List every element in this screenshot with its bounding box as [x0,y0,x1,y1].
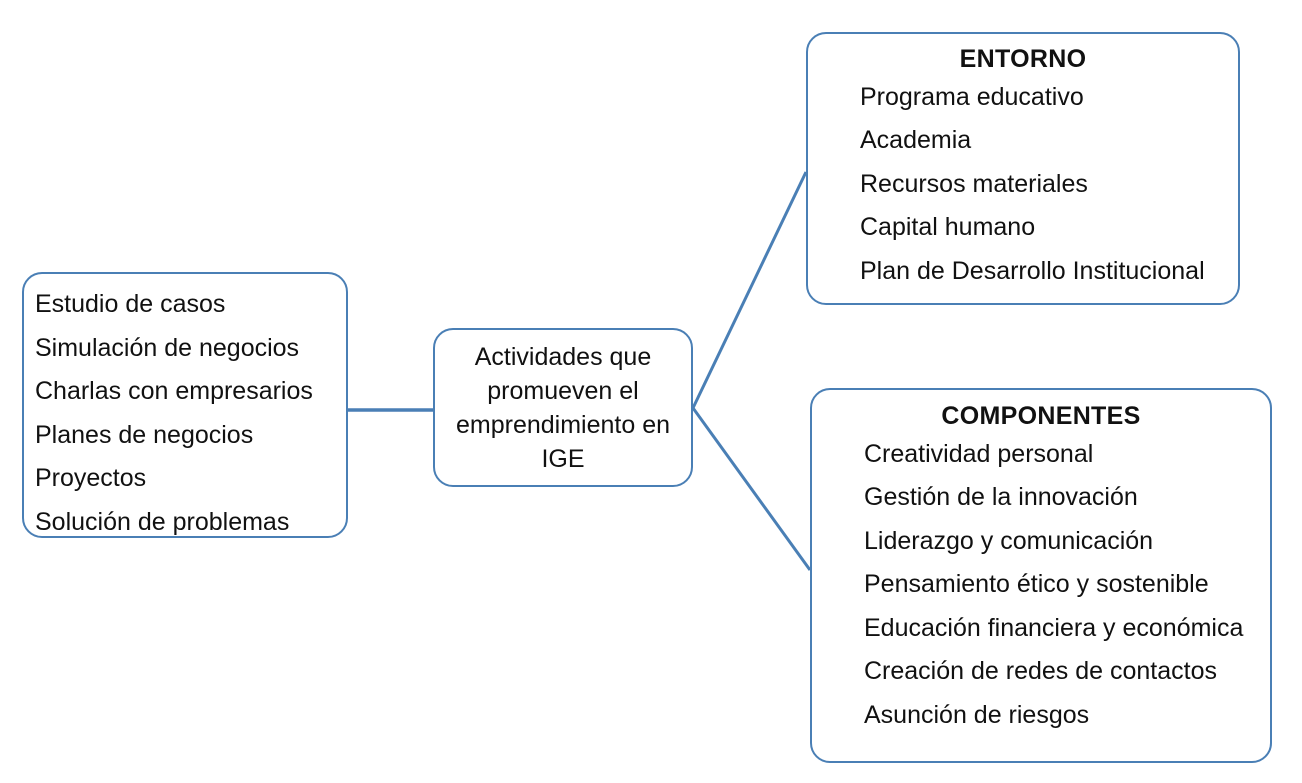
list-item: Creatividad personal [864,433,1270,477]
list-item: Gestión de la innovación [864,476,1270,520]
list-item: Recursos materiales [860,163,1238,207]
list-item: Pensamiento ético y sostenible [864,563,1270,607]
activities-item-list: Estudio de casos Simulación de negocios … [35,283,346,544]
entorno-title: ENTORNO [808,46,1238,74]
list-item: Liderazgo y comunicación [864,520,1270,564]
list-item: Estudio de casos [35,283,346,327]
list-item: Proyectos [35,457,346,501]
entorno-item-list: Programa educativo Academia Recursos mat… [808,76,1238,294]
list-item: Creación de redes de contactos [864,650,1270,694]
list-item: Planes de negocios [35,414,346,458]
list-item: Academia [860,119,1238,163]
componentes-title: COMPONENTES [812,403,1270,431]
node-activities[interactable]: Estudio de casos Simulación de negocios … [22,272,348,538]
list-item: Asunción de riesgos [864,694,1270,738]
connector-center-to-componentes [693,408,810,570]
node-entorno[interactable]: ENTORNO Programa educativo Academia Recu… [806,32,1240,305]
node-center-concept[interactable]: Actividades que promueven el emprendimie… [433,328,693,487]
list-item: Plan de Desarrollo Institucional [860,250,1238,294]
list-item: Simulación de negocios [35,327,346,371]
list-item: Charlas con empresarios [35,370,346,414]
list-item: Educación financiera y económica [864,607,1270,651]
node-componentes[interactable]: COMPONENTES Creatividad personal Gestión… [810,388,1272,763]
diagram-canvas: Estudio de casos Simulación de negocios … [0,0,1302,783]
connector-center-to-entorno [693,172,806,408]
componentes-item-list: Creatividad personal Gestión de la innov… [812,433,1270,738]
list-item: Solución de problemas [35,501,346,545]
list-item: Programa educativo [860,76,1238,120]
center-concept-label: Actividades que promueven el emprendimie… [435,340,691,476]
list-item: Capital humano [860,206,1238,250]
